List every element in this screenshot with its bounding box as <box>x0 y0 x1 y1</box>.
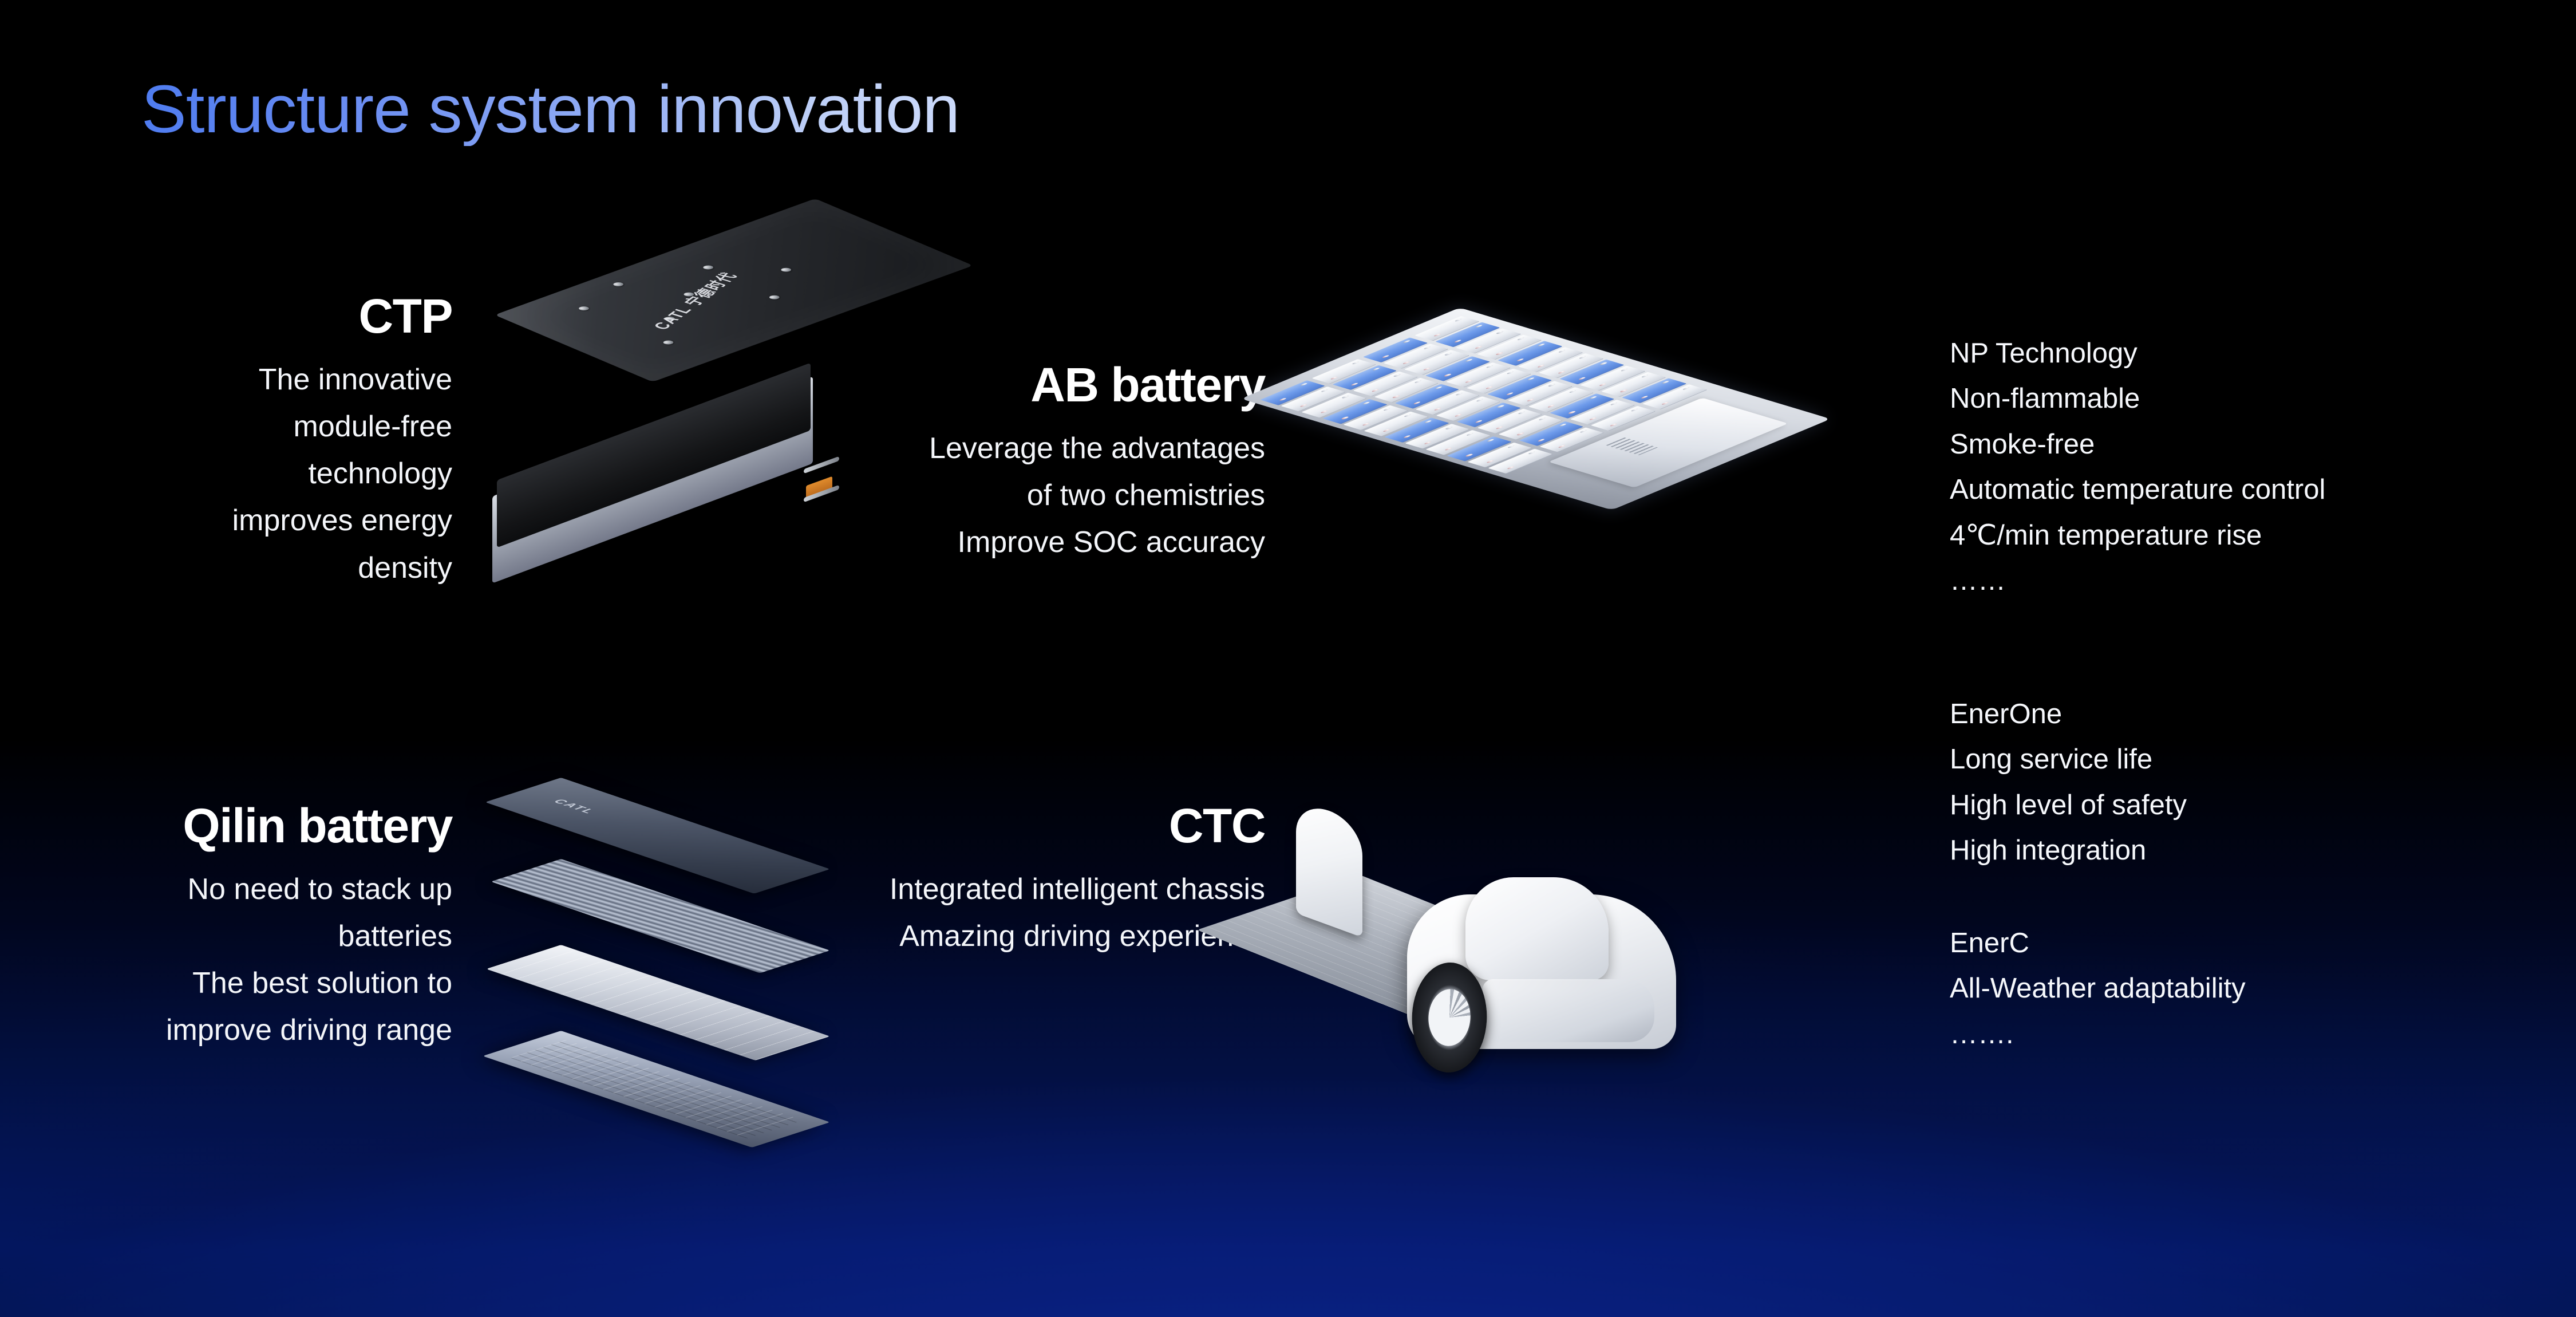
section-lines-ab-battery: Leverage the advantages of two chemistri… <box>893 425 1265 566</box>
section-line: module-free <box>137 403 452 450</box>
ctp-battery-pack-image: CATL 宁德时代 <box>492 309 841 550</box>
section-line: of two chemistries <box>893 472 1265 519</box>
ab-battery-cells-image <box>1288 321 1654 544</box>
section-title-ctc: CTC <box>882 802 1265 850</box>
section-lines-qilin: No need to stack up batteries The best s… <box>114 866 452 1054</box>
feature-item-heading: EnerC <box>1950 921 2246 966</box>
section-line: improve driving range <box>114 1007 452 1054</box>
feature-item-heading: EnerOne <box>1950 692 2187 737</box>
feature-item: Automatic temperature control <box>1950 467 2325 512</box>
section-line: Leverage the advantages <box>893 425 1265 472</box>
feature-group-enerc: EnerC All-Weather adaptability ……. <box>1950 921 2246 1057</box>
section-ctc: CTC Integrated intelligent chassis Amazi… <box>882 802 1265 960</box>
feature-item: Non-flammable <box>1950 376 2325 421</box>
slide-root: Structure system innovation CTP The inno… <box>0 0 2576 1317</box>
section-line: technology <box>137 450 452 497</box>
section-line: batteries <box>114 913 452 960</box>
section-line: density <box>137 545 452 592</box>
feature-item-ellipsis: ……. <box>1950 1012 2246 1057</box>
feature-item: High integration <box>1950 828 2187 873</box>
feature-item: Long service life <box>1950 737 2187 782</box>
ctc-chassis-car-image <box>1294 807 1694 1094</box>
section-line: The best solution to <box>114 960 452 1007</box>
section-ab-battery: AB battery Leverage the advantages of tw… <box>893 361 1265 566</box>
feature-item: High level of safety <box>1950 783 2187 828</box>
ctp-top-cover: CATL 宁德时代 <box>495 199 973 382</box>
ctp-bolt-row <box>495 199 973 382</box>
section-line: The innovative <box>137 356 452 403</box>
feature-item: Smoke-free <box>1950 422 2325 467</box>
page-title: Structure system innovation <box>141 73 959 146</box>
feature-item: All-Weather adaptability <box>1950 966 2246 1011</box>
section-line: No need to stack up <box>114 866 452 913</box>
ctc-side-skirt <box>1483 979 1654 1042</box>
section-ctp: CTP The innovative module-free technolog… <box>137 292 452 592</box>
feature-item-ellipsis: …… <box>1950 558 2325 604</box>
section-title-ctp: CTP <box>137 292 452 340</box>
ab-battery-tray <box>1246 309 1826 508</box>
section-line: Amazing driving experience <box>882 913 1265 960</box>
section-qilin: Qilin battery No need to stack up batter… <box>114 802 452 1054</box>
feature-item: 4℃/min temperature rise <box>1950 513 2325 558</box>
section-title-qilin: Qilin battery <box>114 802 452 850</box>
qilin-battery-exploded-image: CATL <box>475 767 819 1122</box>
section-line: Integrated intelligent chassis <box>882 866 1265 913</box>
feature-group-enerone: EnerOne Long service life High level of … <box>1950 692 2187 874</box>
ctc-rear-pillar <box>1296 799 1362 937</box>
ctc-cabin-shell <box>1465 877 1609 980</box>
section-line: Improve SOC accuracy <box>893 519 1265 566</box>
section-lines-ctp: The innovative module-free technology im… <box>137 356 452 592</box>
section-title-ab-battery: AB battery <box>893 361 1265 409</box>
catl-logo: CATL <box>550 798 599 815</box>
feature-item: NP Technology <box>1950 331 2325 376</box>
section-lines-ctc: Integrated intelligent chassis Amazing d… <box>882 866 1265 960</box>
feature-group-np: NP Technology Non-flammable Smoke-free A… <box>1950 331 2325 604</box>
section-line: improves energy <box>137 497 452 544</box>
